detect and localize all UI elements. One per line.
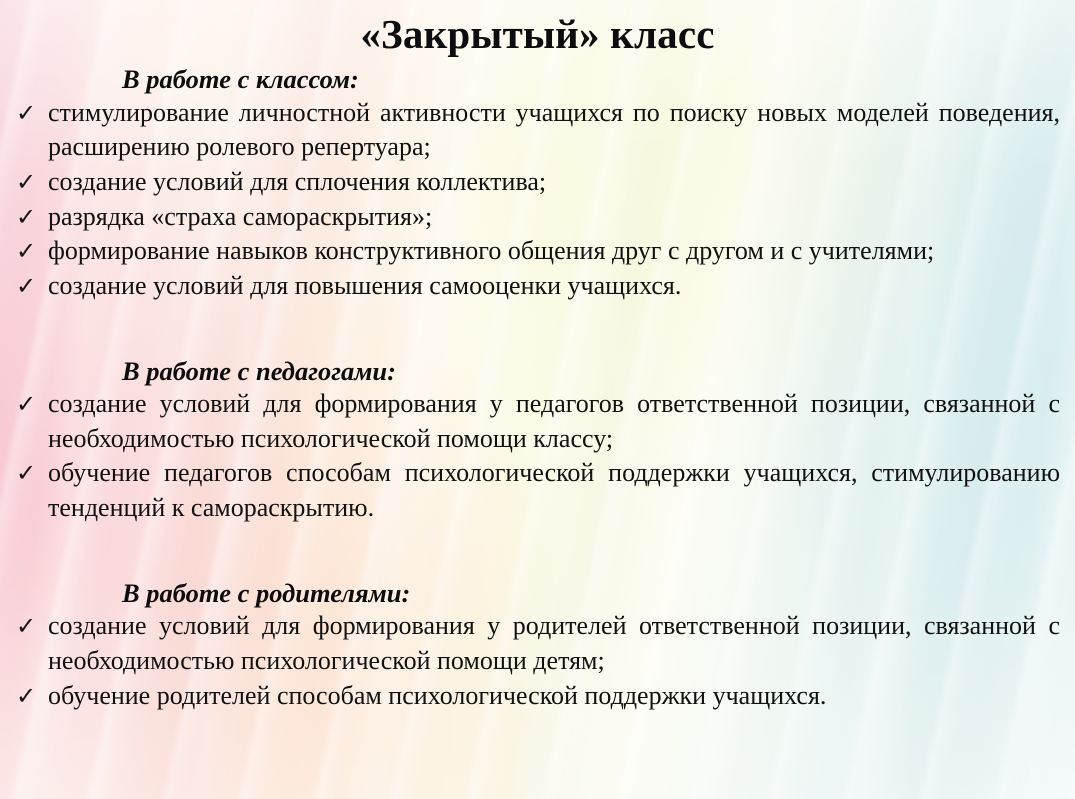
list-item-text: обучение педагогов способам психологичес… [48, 458, 1060, 522]
checkmark-icon: ✓ [16, 680, 36, 713]
list-item: ✓ создание условий для формирования у пе… [8, 387, 1067, 456]
list-item: ✓ создание условий для повышения самооце… [8, 269, 1067, 304]
bullet-list-teachers: ✓ создание условий для формирования у пе… [8, 387, 1067, 526]
slide-body: В работе с классом: ✓ стимулирование лич… [0, 64, 1075, 713]
slide-content: «Закрытый» класс В работе с классом: ✓ с… [0, 0, 1075, 799]
list-item-text: стимулирование личностной активности уча… [48, 98, 1060, 162]
list-item: ✓ обучение педагогов способам психологич… [8, 456, 1067, 525]
checkmark-icon: ✓ [16, 457, 36, 490]
section-heading-teachers: В работе с педагогами: [122, 356, 1067, 387]
list-item-text: разрядка «страха самораскрытия»; [48, 202, 432, 231]
bullet-list-class: ✓ стимулирование личностной активности у… [8, 96, 1067, 304]
list-item: ✓ стимулирование личностной активности у… [8, 96, 1067, 165]
section-heading-parents: В работе с родителями: [122, 578, 1067, 609]
list-item-text: обучение родителей способам психологичес… [48, 681, 826, 710]
list-item-text: создание условий для повышения самооценк… [48, 271, 681, 300]
list-item-text: создание условий для формирования у роди… [48, 611, 1060, 675]
presentation-slide: «Закрытый» класс В работе с классом: ✓ с… [0, 0, 1075, 799]
checkmark-icon: ✓ [16, 97, 36, 130]
checkmark-icon: ✓ [16, 235, 36, 268]
bullet-list-parents: ✓ создание условий для формирования у ро… [8, 609, 1067, 713]
list-item: ✓ разрядка «страха самораскрытия»; [8, 200, 1067, 235]
list-item: ✓ создание условий для формирования у ро… [8, 609, 1067, 678]
checkmark-icon: ✓ [16, 610, 36, 643]
list-item-text: создание условий для сплочения коллектив… [48, 167, 546, 196]
slide-title: «Закрытый» класс [0, 0, 1075, 56]
checkmark-icon: ✓ [16, 388, 36, 421]
checkmark-icon: ✓ [16, 270, 36, 303]
list-item-text: формирование навыков конструктивного общ… [48, 236, 934, 265]
section-heading-class: В работе с классом: [122, 64, 1067, 95]
list-item: ✓ формирование навыков конструктивного о… [8, 234, 1067, 269]
list-item-text: создание условий для формирования у педа… [48, 389, 1060, 453]
list-item: ✓ создание условий для сплочения коллект… [8, 165, 1067, 200]
checkmark-icon: ✓ [16, 201, 36, 234]
checkmark-icon: ✓ [16, 166, 36, 199]
list-item: ✓ обучение родителей способам психологич… [8, 679, 1067, 714]
